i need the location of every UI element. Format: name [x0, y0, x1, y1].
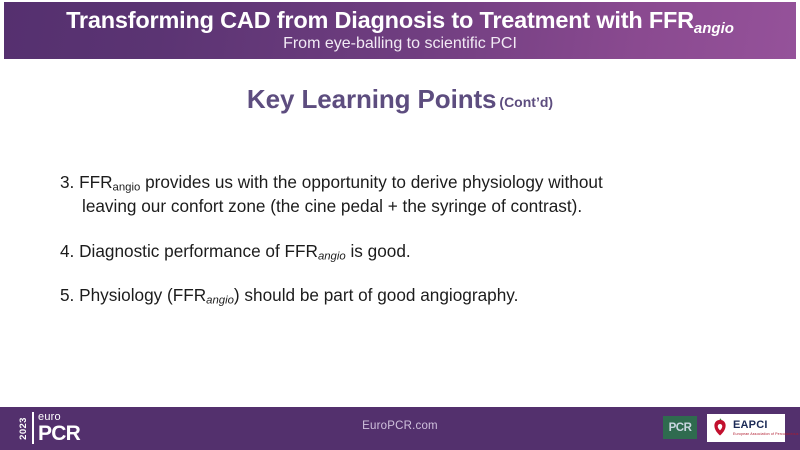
eapci-text-block: EAPCI European Association of Percutaneo… — [733, 420, 800, 437]
heart-icon — [710, 418, 730, 438]
learning-points-list: 3. FFRangio provides us with the opportu… — [60, 170, 750, 328]
eapci-name: EAPCI — [733, 420, 800, 431]
point-number: 3. — [60, 172, 74, 192]
eapci-logo: EAPCI European Association of Percutaneo… — [707, 414, 785, 442]
point-text-after: ) should be part of good angiography. — [234, 285, 518, 305]
presentation-title: Transforming CAD from Diagnosis to Treat… — [66, 9, 734, 33]
point-text-before: Physiology (FFR — [79, 285, 206, 305]
point-number: 5. — [60, 285, 74, 305]
point-subscript: angio — [206, 295, 234, 307]
presentation-title-subscript: angio — [694, 20, 734, 37]
presentation-subtitle: From eye-balling to scientific PCI — [283, 36, 517, 53]
page-title-continued-label: (Cont’d) — [499, 94, 553, 110]
presentation-title-main: Transforming CAD from Diagnosis to Treat… — [66, 7, 694, 33]
point-line-2: leaving our confort zone (the cine pedal… — [60, 194, 750, 218]
point-subscript: angio — [318, 250, 346, 262]
page-title: Key Learning Points(Cont’d) — [0, 84, 800, 115]
point-text-after: is good. — [346, 241, 411, 261]
list-item: 3. FFRangio provides us with the opportu… — [60, 170, 750, 219]
point-text-before: Diagnostic performance of FFR — [79, 241, 318, 261]
point-text-before: FFR — [79, 172, 112, 192]
point-text-after: provides us with the opportunity to deri… — [140, 172, 602, 192]
point-subscript: angio — [113, 181, 141, 193]
slide-header-band: Transforming CAD from Diagnosis to Treat… — [4, 2, 796, 59]
list-item: 4. Diagnostic performance of FFRangio is… — [60, 239, 750, 263]
pcr-brand-mark-label: PCR — [669, 422, 692, 434]
pcr-brand-mark: PCR — [663, 416, 697, 439]
list-item: 5. Physiology (FFRangio) should be part … — [60, 283, 750, 307]
slide-canvas: Transforming CAD from Diagnosis to Treat… — [0, 0, 800, 450]
page-title-text: Key Learning Points — [247, 84, 496, 114]
eapci-tagline: European Association of Percutaneous Car… — [733, 433, 800, 437]
point-number: 4. — [60, 241, 74, 261]
